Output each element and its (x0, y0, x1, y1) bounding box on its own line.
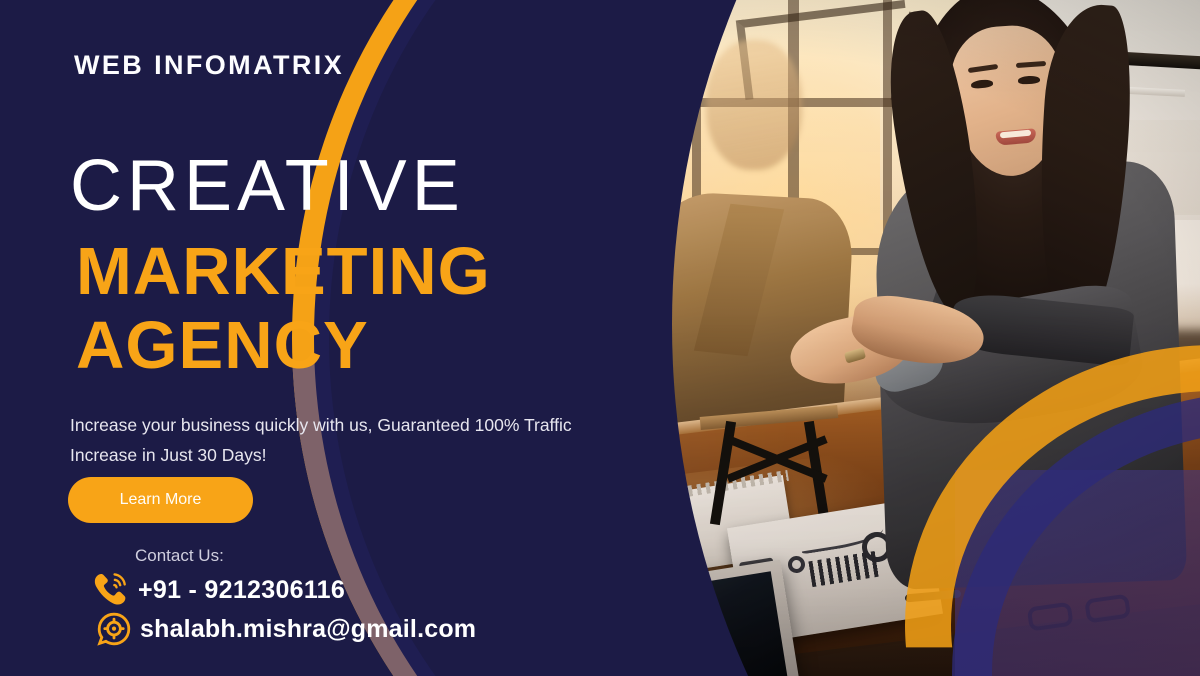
headline-line-1: CREATIVE (70, 150, 465, 222)
contact-us-label: Contact Us: (135, 546, 224, 566)
brand-logo: WEB INFOMATRIX (74, 50, 344, 81)
phone-contact-row[interactable]: +91 - 9212306116 (90, 570, 345, 610)
marketing-banner: WEB INFOMATRIX CREATIVE MARKETING AGENCY… (0, 0, 1200, 676)
chat-bubble-target-icon (97, 612, 131, 646)
email-address: shalabh.mishra@gmail.com (140, 615, 476, 644)
headline-line-3: AGENCY (76, 312, 369, 379)
email-contact-row[interactable]: shalabh.mishra@gmail.com (97, 612, 476, 646)
subtitle-text: Increase your business quickly with us, … (70, 410, 580, 470)
content-panel: WEB INFOMATRIX CREATIVE MARKETING AGENCY… (0, 0, 640, 676)
phone-call-icon (90, 570, 132, 610)
learn-more-button[interactable]: Learn More (68, 477, 253, 523)
headline-line-2: MARKETING (76, 238, 491, 305)
phone-number: +91 - 9212306116 (138, 576, 345, 605)
